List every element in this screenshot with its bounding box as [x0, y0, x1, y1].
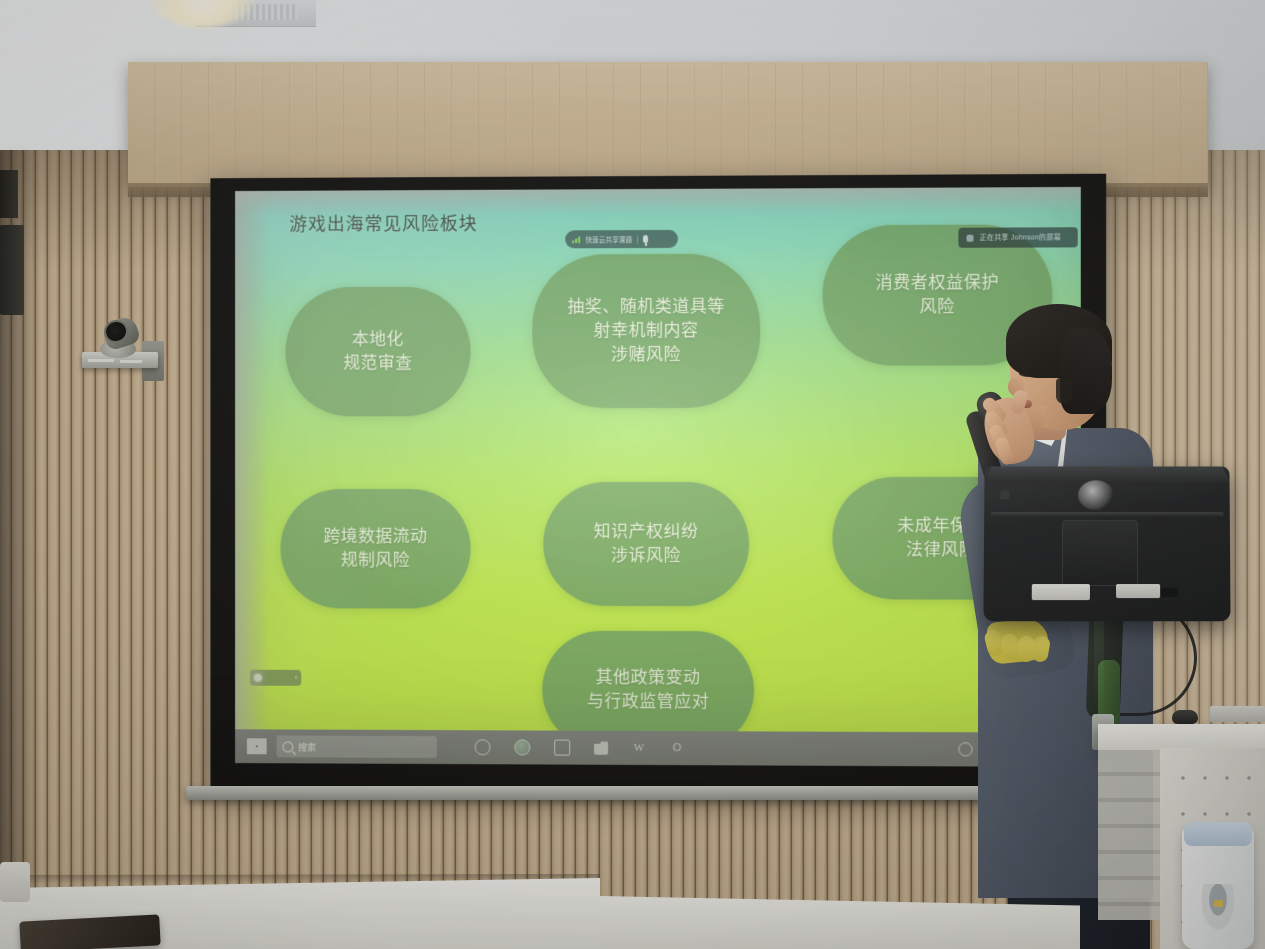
- pill-line: 射幸机制内容: [567, 319, 724, 344]
- toolbar-divider: [637, 235, 638, 244]
- chevron-left-icon[interactable]: ‹: [295, 674, 297, 681]
- slide-top-washout: [235, 187, 1081, 217]
- keyboard: [1210, 706, 1265, 722]
- camera-bracket-slot: [88, 359, 114, 362]
- monitor-top-bevel: [984, 466, 1229, 482]
- desk-leg-column: [1098, 750, 1160, 920]
- windows-taskbar[interactable]: 搜索 W O 中: [235, 729, 1081, 767]
- microphone-icon[interactable]: [643, 235, 648, 243]
- wall-speaker-upper: [0, 170, 18, 218]
- share-indicator-icon: [966, 234, 973, 241]
- screen-share-status[interactable]: 正在共享 Johnson的屏幕: [958, 227, 1077, 248]
- slide-left-washout: [235, 191, 269, 730]
- pill-lottery-gambling-risk: 抽奖、随机类道具等 射幸机制内容 涉赌风险: [532, 254, 760, 409]
- pill-line: 抽奖、随机类道具等: [567, 295, 724, 320]
- pill-line: 消费者权益保护: [875, 271, 999, 296]
- search-icon: [282, 741, 293, 752]
- bottle-graphic: [1198, 884, 1238, 936]
- pill-ip-dispute-risk: 知识产权纠纷 涉诉风险: [543, 482, 749, 606]
- screen-surface: 游戏出海常见风险板块 本地化 规范审查 抽奖、随机类道具等 射幸机制内容: [235, 187, 1081, 767]
- monitor-ridge: [990, 512, 1224, 517]
- mail-icon[interactable]: [554, 740, 570, 756]
- folder-icon[interactable]: [594, 741, 608, 755]
- pill-line: 跨境数据流动: [323, 525, 427, 549]
- pill-line: 涉赌风险: [567, 343, 724, 367]
- monitor-port: [1160, 588, 1178, 597]
- mouse: [1172, 710, 1198, 724]
- monitor-label-sticker: [1032, 584, 1090, 600]
- pill-line: 知识产权纠纷: [594, 520, 699, 544]
- pill-line: 涉诉风险: [594, 544, 699, 568]
- camera-bracket-slot-2: [120, 360, 142, 363]
- wall-speaker: [0, 225, 24, 315]
- monitor-label-sticker-2: [1116, 584, 1160, 598]
- pill-line: 规制风险: [323, 549, 427, 573]
- browser-icon[interactable]: [514, 739, 530, 755]
- chair-back: [0, 862, 30, 902]
- pill-line: 其他政策变动: [587, 666, 709, 691]
- share-status-label: 正在共享 Johnson的屏幕: [980, 232, 1061, 242]
- monitor-logo-icon: [1078, 480, 1114, 510]
- word-icon[interactable]: W: [632, 741, 646, 755]
- presenter-lower-finger: [1001, 633, 1020, 661]
- search-placeholder: 搜索: [298, 740, 316, 753]
- presentation-slide: 游戏出海常见风险板块 本地化 规范审查 抽奖、随机类道具等 射幸机制内容: [235, 187, 1081, 733]
- search-input[interactable]: 搜索: [277, 735, 437, 758]
- pill-line: 本地化: [343, 328, 412, 352]
- monitor-led-icon: [1000, 490, 1009, 499]
- meeting-toolbar[interactable]: 快速云共享课题: [565, 230, 678, 248]
- task-view-icon[interactable]: [475, 739, 491, 755]
- office-icon[interactable]: O: [670, 741, 684, 755]
- pill-line: 规范审查: [343, 352, 412, 376]
- wood-valance: [128, 62, 1208, 187]
- external-monitor-rear: [983, 466, 1230, 621]
- presenter-sideburn: [1056, 378, 1072, 404]
- monitor-vesa-mount: [1062, 520, 1138, 586]
- conference-room-photo: 游戏出海常见风险板块 本地化 规范审查 抽奖、随机类道具等 射幸机制内容: [0, 0, 1265, 949]
- taskbar-app-icons[interactable]: W O: [475, 739, 684, 756]
- pill-cross-border-data-risk: 跨境数据流动 规制风险: [280, 489, 470, 609]
- standing-desk-surface: [1098, 724, 1265, 750]
- bottle-cap: [1184, 822, 1252, 846]
- tablet-device: [19, 914, 160, 949]
- bottle-graphic-beak: [1214, 900, 1223, 907]
- start-icon[interactable]: [247, 738, 267, 754]
- meeting-toolbar-label: 快速云共享课题: [585, 234, 632, 244]
- pill-localization-review: 本地化 规范审查: [285, 287, 470, 417]
- projected-desktop: 游戏出海常见风险板块 本地化 规范审查 抽奖、随机类道具等 射幸机制内容: [235, 187, 1081, 767]
- pill-line: 与行政监管应对: [587, 690, 709, 715]
- signal-strength-icon: [572, 235, 580, 243]
- valance-grain: [128, 62, 1208, 187]
